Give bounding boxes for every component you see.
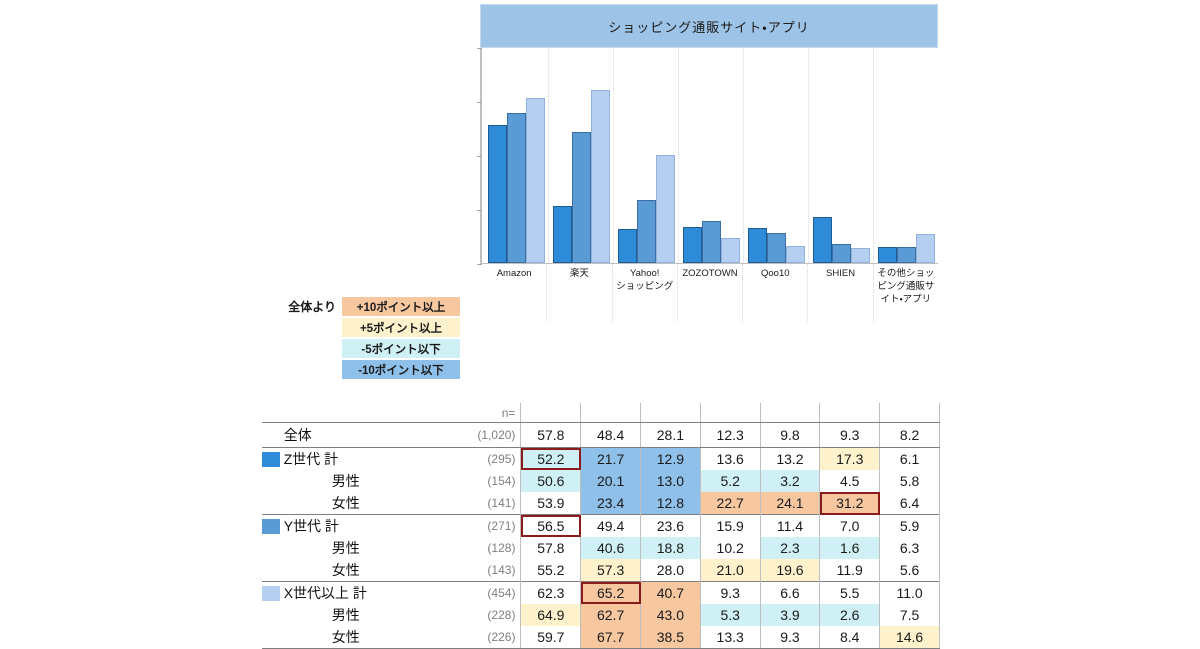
table-cell: 40.7 <box>641 582 701 605</box>
bar-y <box>572 132 591 263</box>
table-cell: 23.6 <box>641 515 701 538</box>
table-cell: 49.4 <box>581 515 641 538</box>
table-cell: 19.6 <box>760 559 820 582</box>
bar-x <box>656 155 675 263</box>
table-cell: 12.3 <box>700 423 760 448</box>
bar-y <box>832 244 851 263</box>
row-label: 女性 <box>282 626 466 649</box>
bar-chart: ショッピング通販サイト・アプリ Amazon楽天Yahoo!ショッピングZOZO… <box>480 4 938 276</box>
bar-group <box>744 48 809 263</box>
table-header-cell <box>820 403 880 423</box>
table-cell: 5.8 <box>880 470 940 492</box>
table-cell: 13.0 <box>641 470 701 492</box>
table-cell: 28.1 <box>641 423 701 448</box>
row-sample-size: (154) <box>465 470 521 492</box>
bar-y <box>767 233 786 263</box>
table-cell-highlighted: 65.2 <box>581 582 641 605</box>
y-axis-tick <box>477 48 482 49</box>
table-cell: 62.3 <box>521 582 581 605</box>
table-header-cell <box>521 403 581 423</box>
table-cell: 40.6 <box>581 537 641 559</box>
series-swatch <box>262 604 282 626</box>
table-cell: 2.3 <box>760 537 820 559</box>
table-row: 男性(128)57.840.618.810.22.31.66.3 <box>262 537 940 559</box>
bar-group <box>549 48 614 263</box>
row-sample-size: (271) <box>465 515 521 538</box>
bar-group <box>614 48 679 263</box>
bar-group <box>484 48 549 263</box>
table-cell: 11.9 <box>820 559 880 582</box>
table-cell: 53.9 <box>521 492 581 515</box>
series-swatch <box>262 537 282 559</box>
row-sample-size: (141) <box>465 492 521 515</box>
row-label <box>282 403 466 423</box>
swatch-cell <box>262 403 282 423</box>
table-cell: 28.0 <box>641 559 701 582</box>
row-sample-size: (1,020) <box>465 423 521 448</box>
table-cell: 14.6 <box>880 626 940 649</box>
series-swatch <box>262 515 282 538</box>
table-row: 男性(228)64.962.743.05.33.92.67.5 <box>262 604 940 626</box>
bar-z <box>553 206 572 264</box>
bar-x <box>851 248 870 263</box>
chart-bars <box>484 48 938 263</box>
row-sample-size: (228) <box>465 604 521 626</box>
x-axis-label: Amazon <box>482 264 547 322</box>
table-cell: 57.8 <box>521 423 581 448</box>
bar-group <box>679 48 744 263</box>
table-cell: 9.3 <box>700 582 760 605</box>
table-row: 女性(141)53.923.412.822.724.131.26.4 <box>262 492 940 515</box>
row-sample-size: (143) <box>465 559 521 582</box>
table-cell: 13.6 <box>700 448 760 471</box>
table-element: n=全体(1,020)57.848.428.112.39.89.38.2Z世代 … <box>262 403 940 649</box>
table-cell: 4.5 <box>820 470 880 492</box>
legend-row: 全体より+10ポイント以上 <box>260 296 460 317</box>
bar-group <box>874 48 938 263</box>
table-row: Z世代 計(295)52.221.712.913.613.217.36.1 <box>262 448 940 471</box>
table-cell: 12.8 <box>641 492 701 515</box>
table-cell: 24.1 <box>760 492 820 515</box>
row-label: X世代以上 計 <box>282 582 466 605</box>
table-cell: 22.7 <box>700 492 760 515</box>
series-swatch <box>262 559 282 582</box>
legend-row: +5ポイント以上 <box>260 317 460 338</box>
x-axis-labels: Amazon楽天Yahoo!ショッピングZOZOTOWNQoo10SHIENその… <box>482 264 938 322</box>
color-legend: 全体より+10ポイント以上+5ポイント以上-5ポイント以下-10ポイント以下 <box>260 296 460 380</box>
table-cell: 5.3 <box>700 604 760 626</box>
x-axis-label: ZOZOTOWN <box>678 264 743 322</box>
table-cell: 38.5 <box>641 626 701 649</box>
table-header-row: n= <box>262 403 940 423</box>
table-cell: 9.3 <box>820 423 880 448</box>
legend-chip: +5ポイント以上 <box>342 318 460 337</box>
bar-z <box>748 228 767 263</box>
table-cell: 9.3 <box>760 626 820 649</box>
legend-chip: -5ポイント以下 <box>342 339 460 358</box>
table-row: 女性(226)59.767.738.513.39.38.414.6 <box>262 626 940 649</box>
data-table: n=全体(1,020)57.848.428.112.39.89.38.2Z世代 … <box>262 403 940 649</box>
bar-z <box>878 247 897 263</box>
table-cell: 62.7 <box>581 604 641 626</box>
row-label: 男性 <box>282 537 466 559</box>
table-cell: 5.5 <box>820 582 880 605</box>
table-cell: 21.7 <box>581 448 641 471</box>
table-cell: 3.2 <box>760 470 820 492</box>
y-axis-tick <box>477 102 482 103</box>
row-sample-size: (226) <box>465 626 521 649</box>
table-cell: 8.2 <box>880 423 940 448</box>
x-axis-label: SHIEN <box>808 264 873 322</box>
row-sample-size: (454) <box>465 582 521 605</box>
table-cell: 1.6 <box>820 537 880 559</box>
table-cell: 10.2 <box>700 537 760 559</box>
row-label: 女性 <box>282 559 466 582</box>
bar-x <box>591 90 610 263</box>
table-cell: 6.1 <box>880 448 940 471</box>
table-header-cell <box>581 403 641 423</box>
bar-z <box>683 227 702 263</box>
table-cell: 21.0 <box>700 559 760 582</box>
table-cell: 11.4 <box>760 515 820 538</box>
n-header: n= <box>465 403 521 423</box>
table-cell: 5.2 <box>700 470 760 492</box>
table-header-cell <box>880 403 940 423</box>
table-row: 男性(154)50.620.113.05.23.24.55.8 <box>262 470 940 492</box>
series-swatch <box>262 582 282 605</box>
series-swatch <box>262 626 282 649</box>
y-axis-tick <box>477 156 482 157</box>
table-cell: 13.3 <box>700 626 760 649</box>
bar-group <box>809 48 874 263</box>
table-header-cell <box>700 403 760 423</box>
table-header-cell <box>641 403 701 423</box>
table-row: Y世代 計(271)56.549.423.615.911.47.05.9 <box>262 515 940 538</box>
table-cell: 23.4 <box>581 492 641 515</box>
table-cell: 6.3 <box>880 537 940 559</box>
bar-x <box>916 234 935 263</box>
page-root: ショッピング通販サイト・アプリ Amazon楽天Yahoo!ショッピングZOZO… <box>0 0 1200 630</box>
table-cell: 15.9 <box>700 515 760 538</box>
table-cell: 55.2 <box>521 559 581 582</box>
series-swatch <box>262 470 282 492</box>
table-cell: 18.8 <box>641 537 701 559</box>
row-label: 男性 <box>282 470 466 492</box>
table-cell-highlighted: 52.2 <box>521 448 581 471</box>
table-cell: 50.6 <box>521 470 581 492</box>
table-cell: 3.9 <box>760 604 820 626</box>
chart-title: ショッピング通販サイト・アプリ <box>480 4 938 48</box>
table-cell: 11.0 <box>880 582 940 605</box>
table-cell-highlighted: 31.2 <box>820 492 880 515</box>
table-cell: 20.1 <box>581 470 641 492</box>
row-sample-size: (295) <box>465 448 521 471</box>
row-label: 男性 <box>282 604 466 626</box>
table-cell: 2.6 <box>820 604 880 626</box>
bar-x <box>721 238 740 263</box>
table-cell: 7.5 <box>880 604 940 626</box>
series-swatch <box>262 492 282 515</box>
legend-chip: +10ポイント以上 <box>342 297 460 316</box>
row-label: Z世代 計 <box>282 448 466 471</box>
x-axis-label: その他ショッピング通販サイト・アプリ <box>874 264 938 322</box>
x-axis-label: Qoo10 <box>743 264 808 322</box>
bar-z <box>813 217 832 263</box>
table-cell: 8.4 <box>820 626 880 649</box>
table-row: 全体(1,020)57.848.428.112.39.89.38.2 <box>262 423 940 448</box>
bar-y <box>637 200 656 263</box>
row-sample-size: (128) <box>465 537 521 559</box>
table-cell: 9.8 <box>760 423 820 448</box>
legend-prefix-label: 全体より <box>288 298 336 315</box>
bar-z <box>618 229 637 263</box>
table-cell: 6.4 <box>880 492 940 515</box>
bar-y <box>897 247 916 263</box>
chart-plot-area <box>480 48 938 264</box>
table-header-cell <box>760 403 820 423</box>
table-cell: 7.0 <box>820 515 880 538</box>
table-cell: 59.7 <box>521 626 581 649</box>
series-swatch <box>262 423 282 448</box>
table-row: 女性(143)55.257.328.021.019.611.95.6 <box>262 559 940 582</box>
bar-x <box>786 246 805 263</box>
table-cell: 43.0 <box>641 604 701 626</box>
table-cell: 5.6 <box>880 559 940 582</box>
y-axis-tick <box>477 210 482 211</box>
table-row: X世代以上 計(454)62.365.240.79.36.65.511.0 <box>262 582 940 605</box>
bar-x <box>526 98 545 263</box>
table-cell: 57.8 <box>521 537 581 559</box>
legend-chip: -10ポイント以下 <box>342 360 460 379</box>
bar-y <box>702 221 721 263</box>
table-cell: 12.9 <box>641 448 701 471</box>
row-label: Y世代 計 <box>282 515 466 538</box>
legend-row: -5ポイント以下 <box>260 338 460 359</box>
row-label: 全体 <box>282 423 466 448</box>
table-cell: 67.7 <box>581 626 641 649</box>
table-cell: 13.2 <box>760 448 820 471</box>
table-cell: 64.9 <box>521 604 581 626</box>
legend-row: -10ポイント以下 <box>260 359 460 380</box>
table-cell: 57.3 <box>581 559 641 582</box>
bar-z <box>488 125 507 263</box>
row-label: 女性 <box>282 492 466 515</box>
table-cell: 17.3 <box>820 448 880 471</box>
x-axis-label: 楽天 <box>547 264 612 322</box>
bar-y <box>507 113 526 263</box>
table-cell: 6.6 <box>760 582 820 605</box>
table-cell-highlighted: 56.5 <box>521 515 581 538</box>
table-cell: 5.9 <box>880 515 940 538</box>
series-swatch <box>262 448 282 471</box>
table-cell: 48.4 <box>581 423 641 448</box>
x-axis-label: Yahoo!ショッピング <box>613 264 678 322</box>
